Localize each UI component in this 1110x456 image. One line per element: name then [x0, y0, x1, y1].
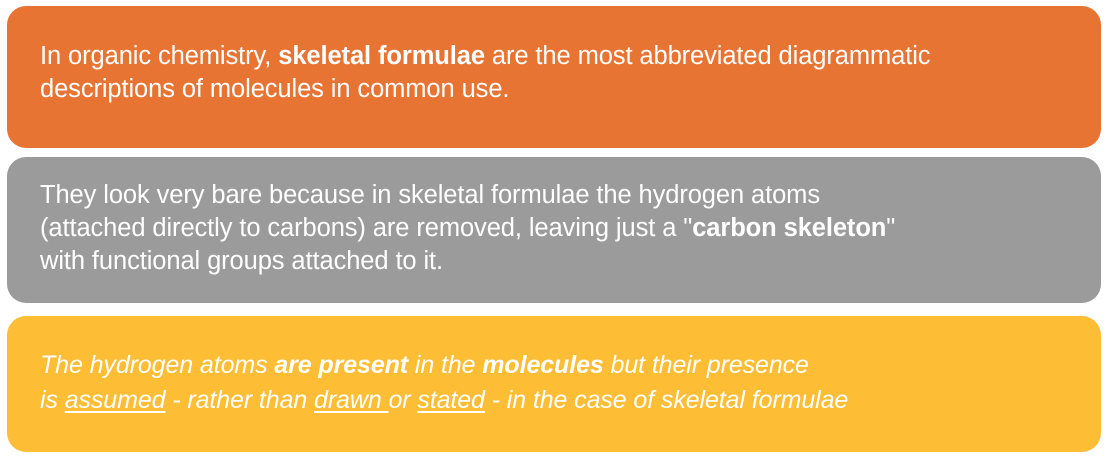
- text-segment: or: [388, 386, 417, 414]
- underlined-text: drawn: [314, 386, 388, 414]
- callout-key-point-text: The hydrogen atoms are present in the mo…: [27, 348, 1081, 418]
- text-segment: skeletal formulae: [278, 42, 485, 70]
- callout-line: descriptions of molecules in common use.: [40, 73, 1081, 106]
- callout-definition: In organic chemistry, skeletal formulae …: [7, 6, 1101, 148]
- bold-text: molecules: [482, 351, 603, 379]
- slide-canvas: In organic chemistry, skeletal formulae …: [0, 0, 1110, 456]
- callout-line: They look very bare because in skeletal …: [40, 179, 1081, 212]
- bold-text: carbon skeleton: [692, 214, 886, 242]
- text-segment: molecules: [482, 351, 603, 379]
- text-segment: but their presence: [604, 351, 809, 379]
- callout-line: In organic chemistry, skeletal formulae …: [40, 40, 1081, 73]
- underlined-text: assumed: [65, 386, 166, 414]
- text-segment: - rather than: [165, 386, 314, 414]
- text-segment: is: [40, 386, 65, 414]
- text-segment: in the: [408, 351, 482, 379]
- callout-line: The hydrogen atoms are present in the mo…: [40, 348, 1081, 383]
- text-segment: are the most abbreviated diagrammatic: [485, 42, 931, 70]
- underlined-text: stated: [417, 386, 485, 414]
- callout-key-point: The hydrogen atoms are present in the mo…: [7, 316, 1101, 452]
- callout-explanation: They look very bare because in skeletal …: [7, 157, 1101, 303]
- text-segment: (attached directly to carbons) are remov…: [40, 214, 692, 242]
- callout-explanation-text: They look very bare because in skeletal …: [27, 179, 1081, 278]
- text-segment: are present: [274, 351, 408, 379]
- text-segment: They look very bare because in skeletal …: [40, 181, 820, 209]
- callout-line: (attached directly to carbons) are remov…: [40, 212, 1081, 245]
- text-segment: In organic chemistry,: [40, 42, 278, 70]
- text-segment: - in the case of skeletal formulae: [485, 386, 848, 414]
- callout-line: with functional groups attached to it.: [40, 245, 1081, 278]
- text-segment: assumed: [65, 386, 166, 414]
- text-segment: carbon skeleton: [692, 214, 886, 242]
- text-segment: ": [886, 214, 895, 242]
- text-segment: drawn: [314, 386, 388, 414]
- text-segment: descriptions of molecules in common use.: [40, 75, 509, 103]
- text-segment: The hydrogen atoms: [40, 351, 274, 379]
- text-segment: stated: [417, 386, 485, 414]
- bold-text: are present: [274, 351, 408, 379]
- callout-line: is assumed - rather than drawn or stated…: [40, 383, 1081, 418]
- callout-definition-text: In organic chemistry, skeletal formulae …: [27, 40, 1081, 106]
- text-segment: with functional groups attached to it.: [40, 247, 443, 275]
- bold-text: skeletal formulae: [278, 42, 485, 70]
